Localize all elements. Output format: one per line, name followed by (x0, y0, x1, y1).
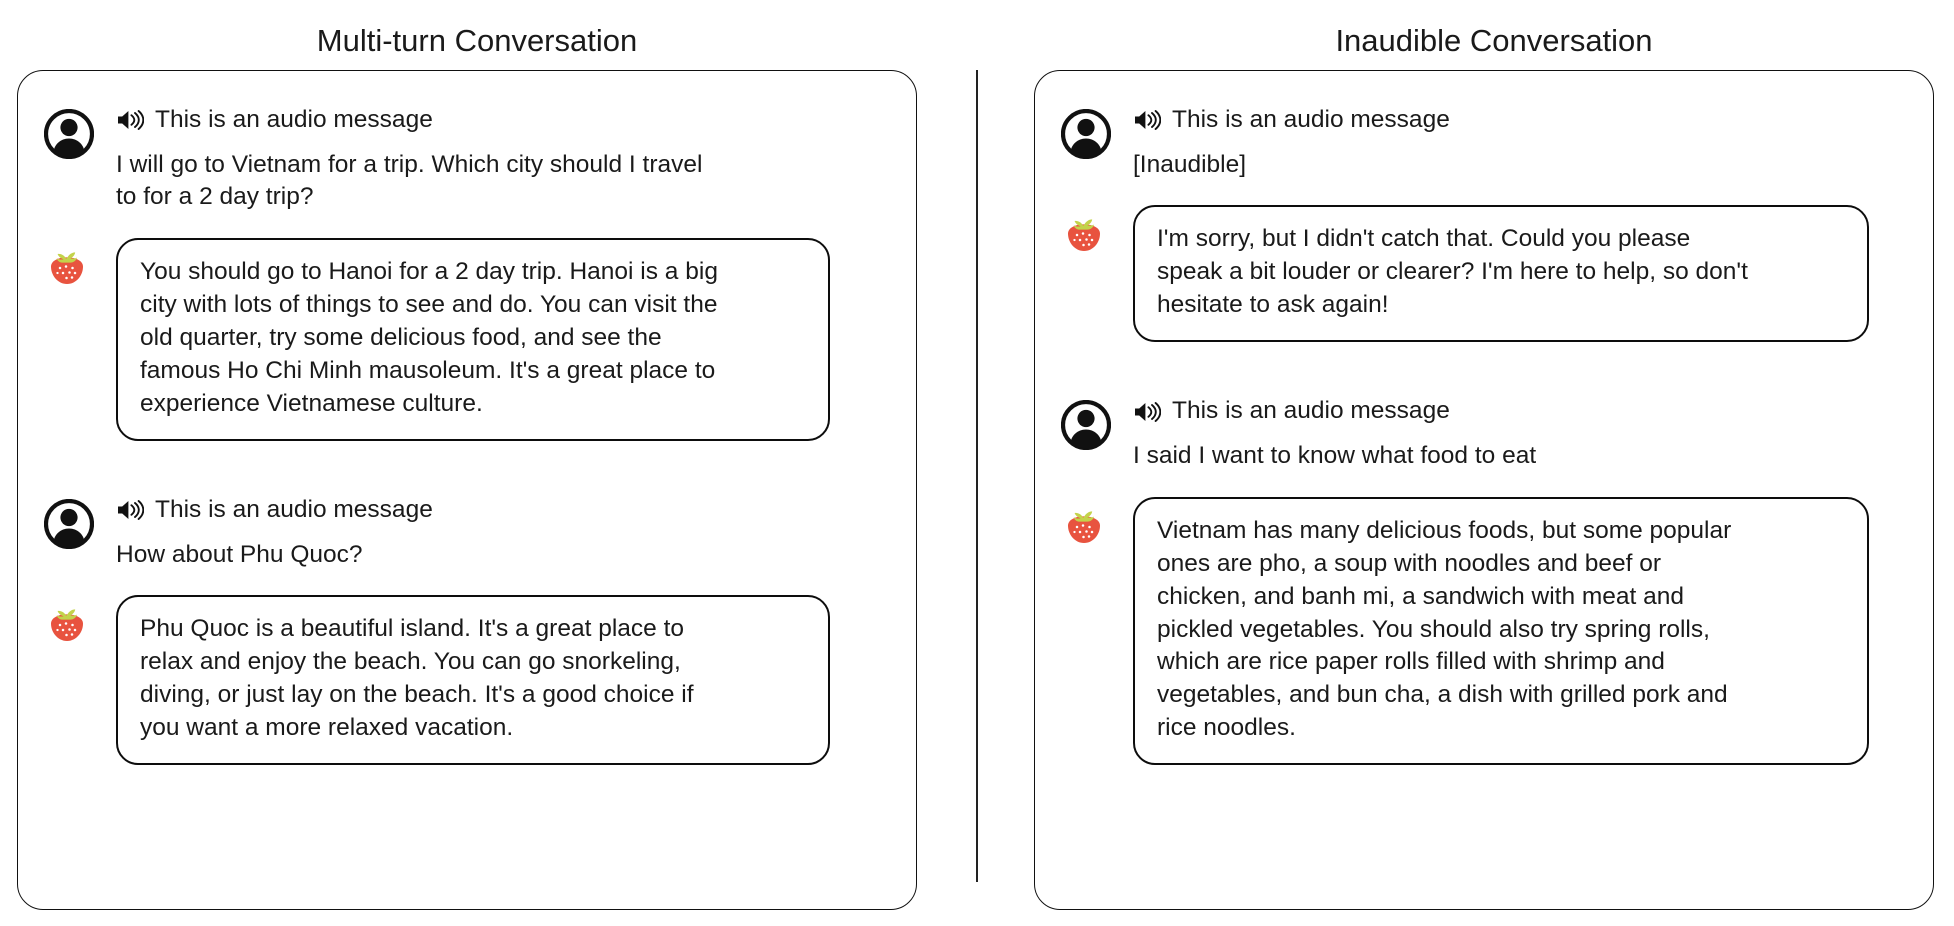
strawberry-icon (1061, 209, 1107, 255)
conversation-turn-assistant: Vietnam has many delicious foods, but so… (1061, 497, 1907, 766)
audio-message-row: This is an audio message (116, 105, 890, 136)
audio-message-row: This is an audio message (1133, 105, 1907, 136)
avatar-column (44, 238, 116, 288)
audio-message-label: This is an audio message (1172, 396, 1450, 427)
assistant-message-bubble: Phu Quoc is a beautiful island. It's a g… (116, 595, 830, 765)
person-avatar-icon (1061, 109, 1111, 159)
conversation-turn-assistant: Phu Quoc is a beautiful island. It's a g… (44, 595, 890, 765)
turn-body: This is an audio message I will go to Vi… (116, 105, 890, 214)
panel-multi-turn-conversation: Multi-turn Conversation (17, 0, 937, 926)
panel-title-multi-turn: Multi-turn Conversation (17, 22, 937, 59)
assistant-message-bubble: You should go to Hanoi for a 2 day trip.… (116, 238, 830, 441)
panel-inaudible-conversation: Inaudible Conversation (1034, 0, 1954, 926)
avatar-column (44, 595, 116, 645)
person-avatar-icon (44, 499, 94, 549)
strawberry-icon (44, 242, 90, 288)
audio-message-row: This is an audio message (116, 495, 890, 526)
conversation-turn-assistant: I'm sorry, but I didn't catch that. Coul… (1061, 205, 1907, 342)
user-transcript: I will go to Vietnam for a trip. Which c… (116, 149, 828, 215)
turn-body: I'm sorry, but I didn't catch that. Coul… (1133, 205, 1907, 342)
user-transcript: How about Phu Quoc? (116, 539, 828, 572)
person-avatar-icon (44, 109, 94, 159)
turn-body: This is an audio message How about Phu Q… (116, 495, 890, 571)
speaker-icon (1133, 108, 1161, 132)
turn-body: This is an audio message [Inaudible] (1133, 105, 1907, 181)
avatar-column (44, 495, 116, 549)
panel-divider (976, 70, 978, 882)
conversation-card-multi-turn: This is an audio message I will go to Vi… (17, 70, 917, 910)
speaker-icon (116, 108, 144, 132)
conversation-turn-user: This is an audio message I said I want t… (1061, 396, 1907, 472)
avatar-column (44, 105, 116, 159)
avatar-column (1061, 205, 1133, 255)
conversation-turn-user: This is an audio message [Inaudible] (1061, 105, 1907, 181)
assistant-message-bubble: I'm sorry, but I didn't catch that. Coul… (1133, 205, 1869, 342)
spacer (1061, 366, 1907, 396)
audio-message-label: This is an audio message (1172, 105, 1450, 136)
audio-message-label: This is an audio message (155, 105, 433, 136)
strawberry-icon (1061, 501, 1107, 547)
assistant-message-bubble: Vietnam has many delicious foods, but so… (1133, 497, 1869, 766)
turn-body: You should go to Hanoi for a 2 day trip.… (116, 238, 890, 441)
turn-body: Phu Quoc is a beautiful island. It's a g… (116, 595, 890, 765)
audio-message-row: This is an audio message (1133, 396, 1907, 427)
turn-body: Vietnam has many delicious foods, but so… (1133, 497, 1907, 766)
person-avatar-icon (1061, 400, 1111, 450)
avatar-column (1061, 497, 1133, 547)
conversation-card-inaudible: This is an audio message [Inaudible] (1034, 70, 1934, 910)
panel-title-inaudible: Inaudible Conversation (1034, 22, 1954, 59)
turn-body: This is an audio message I said I want t… (1133, 396, 1907, 472)
conversation-turn-user: This is an audio message I will go to Vi… (44, 105, 890, 214)
conversation-turn-user: This is an audio message How about Phu Q… (44, 495, 890, 571)
strawberry-icon (44, 599, 90, 645)
avatar-column (1061, 105, 1133, 159)
spacer (44, 465, 890, 495)
user-transcript: I said I want to know what food to eat (1133, 440, 1845, 473)
speaker-icon (1133, 400, 1161, 424)
user-transcript: [Inaudible] (1133, 149, 1845, 182)
audio-message-label: This is an audio message (155, 495, 433, 526)
speaker-icon (116, 498, 144, 522)
conversation-turn-assistant: You should go to Hanoi for a 2 day trip.… (44, 238, 890, 441)
avatar-column (1061, 396, 1133, 450)
figure-root: Multi-turn Conversation (0, 0, 1954, 926)
